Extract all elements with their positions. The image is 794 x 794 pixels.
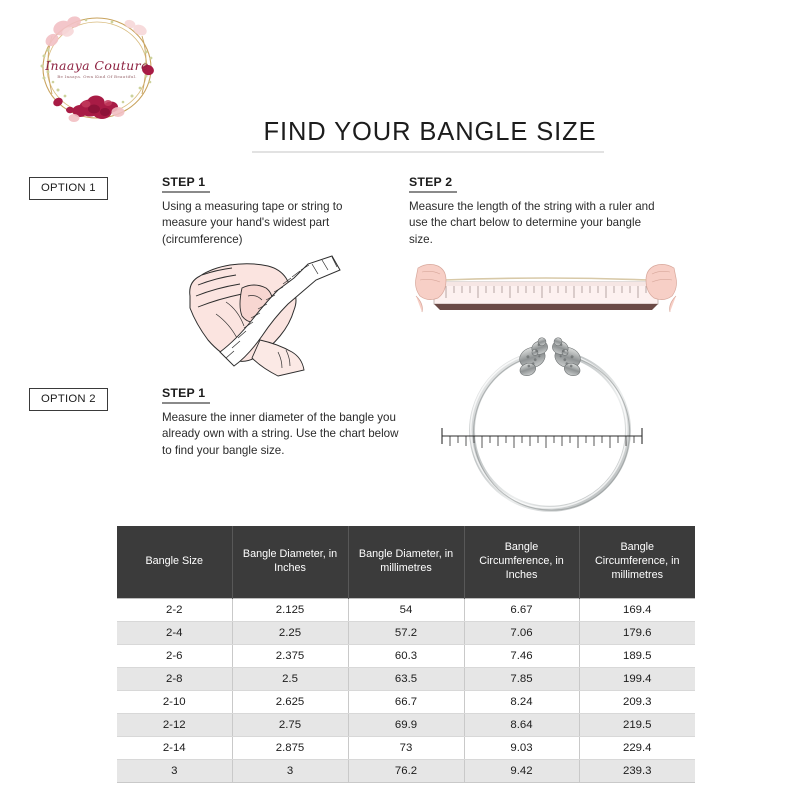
option-1-step-1-title: STEP 1 (162, 175, 205, 189)
cell-diameter-inches: 2.25 (232, 621, 348, 644)
cell-diameter-mm: 66.7 (348, 690, 464, 713)
cell-circumference-inches: 8.64 (464, 713, 579, 736)
option-1-step-2-underline (409, 191, 457, 193)
cell-circumference-inches: 7.06 (464, 621, 579, 644)
page-title: FIND YOUR BANGLE SIZE (240, 118, 620, 147)
cell-circumference-mm: 209.3 (579, 690, 695, 713)
cell-diameter-inches: 2.875 (232, 736, 348, 759)
cell-circumference-mm: 229.4 (579, 736, 695, 759)
cell-circumference-inches: 8.24 (464, 690, 579, 713)
open-silver-bangle-with-ruler-illustration (428, 336, 672, 512)
option-1-step-2-title: STEP 2 (409, 175, 452, 189)
option-2-step-1-body: Measure the inner diameter of the bangle… (162, 410, 410, 459)
cell-bangle-size: 2-14 (117, 736, 232, 759)
table-row: 2-14 2.875 73 9.03 229.4 (117, 736, 695, 759)
option-2-badge: OPTION 2 (29, 388, 108, 411)
option-2-step-1-underline (162, 402, 210, 404)
hands-holding-string-against-ruler-illustration (412, 252, 680, 318)
cell-diameter-mm: 76.2 (348, 759, 464, 782)
cell-circumference-mm: 239.3 (579, 759, 695, 782)
table-row: 2-10 2.625 66.7 8.24 209.3 (117, 690, 695, 713)
option-1-step-2-body: Measure the length of the string with a … (409, 199, 667, 248)
bangle-size-guide-page: Inaaya Couture Be Inaaya. Own Kind Of Be… (0, 0, 794, 794)
cell-bangle-size: 2-2 (117, 598, 232, 621)
table-row: 3 3 76.2 9.42 239.3 (117, 759, 695, 782)
table-row: 2-8 2.5 63.5 7.85 199.4 (117, 667, 695, 690)
table-header: Bangle Size Bangle Diameter, in Inches B… (117, 526, 695, 598)
table-row: 2-2 2.125 54 6.67 169.4 (117, 598, 695, 621)
cell-circumference-mm: 179.6 (579, 621, 695, 644)
cell-circumference-inches: 9.03 (464, 736, 579, 759)
column-header-bangle-size: Bangle Size (117, 526, 232, 598)
cell-diameter-inches: 2.125 (232, 598, 348, 621)
title-divider (252, 151, 604, 153)
hand-with-measuring-tape-illustration (182, 248, 360, 380)
table-header-row: Bangle Size Bangle Diameter, in Inches B… (117, 526, 695, 598)
cell-diameter-inches: 2.75 (232, 713, 348, 736)
column-header-diameter-millimetres: Bangle Diameter, in millimetres (348, 526, 464, 598)
cell-diameter-mm: 69.9 (348, 713, 464, 736)
cell-circumference-mm: 199.4 (579, 667, 695, 690)
cell-diameter-mm: 60.3 (348, 644, 464, 667)
table-row: 2-6 2.375 60.3 7.46 189.5 (117, 644, 695, 667)
option-1-badge: OPTION 1 (29, 177, 108, 200)
cell-circumference-mm: 169.4 (579, 598, 695, 621)
cell-bangle-size: 2-8 (117, 667, 232, 690)
cell-diameter-inches: 3 (232, 759, 348, 782)
cell-diameter-inches: 2.5 (232, 667, 348, 690)
table-body: 2-2 2.125 54 6.67 169.4 2-4 2.25 57.2 7.… (117, 598, 695, 782)
option-1-step-1-underline (162, 191, 210, 193)
cell-diameter-mm: 54 (348, 598, 464, 621)
cell-bangle-size: 3 (117, 759, 232, 782)
brand-name: Inaaya Couture (22, 58, 172, 73)
cell-diameter-mm: 57.2 (348, 621, 464, 644)
cell-circumference-mm: 219.5 (579, 713, 695, 736)
cell-circumference-inches: 6.67 (464, 598, 579, 621)
cell-diameter-mm: 63.5 (348, 667, 464, 690)
column-header-diameter-inches: Bangle Diameter, in Inches (232, 526, 348, 598)
cell-diameter-mm: 73 (348, 736, 464, 759)
brand-logo: Inaaya Couture Be Inaaya. Own Kind Of Be… (22, 8, 172, 126)
column-header-circumference-millimetres: Bangle Circumference, in millimetres (579, 526, 695, 598)
cell-circumference-inches: 7.85 (464, 667, 579, 690)
cell-bangle-size: 2-12 (117, 713, 232, 736)
option-1-step-1-body: Using a measuring tape or string to meas… (162, 199, 370, 248)
bangle-size-table: Bangle Size Bangle Diameter, in Inches B… (117, 526, 695, 783)
option-2-step-1-title: STEP 1 (162, 386, 205, 400)
cell-circumference-inches: 7.46 (464, 644, 579, 667)
cell-bangle-size: 2-6 (117, 644, 232, 667)
cell-circumference-inches: 9.42 (464, 759, 579, 782)
brand-tagline: Be Inaaya. Own Kind Of Beautiful. (22, 74, 172, 79)
cell-diameter-inches: 2.625 (232, 690, 348, 713)
cell-bangle-size: 2-4 (117, 621, 232, 644)
table-row: 2-4 2.25 57.2 7.06 179.6 (117, 621, 695, 644)
table-row: 2-12 2.75 69.9 8.64 219.5 (117, 713, 695, 736)
cell-diameter-inches: 2.375 (232, 644, 348, 667)
column-header-circumference-inches: Bangle Circumference, in Inches (464, 526, 579, 598)
cell-circumference-mm: 189.5 (579, 644, 695, 667)
cell-bangle-size: 2-10 (117, 690, 232, 713)
